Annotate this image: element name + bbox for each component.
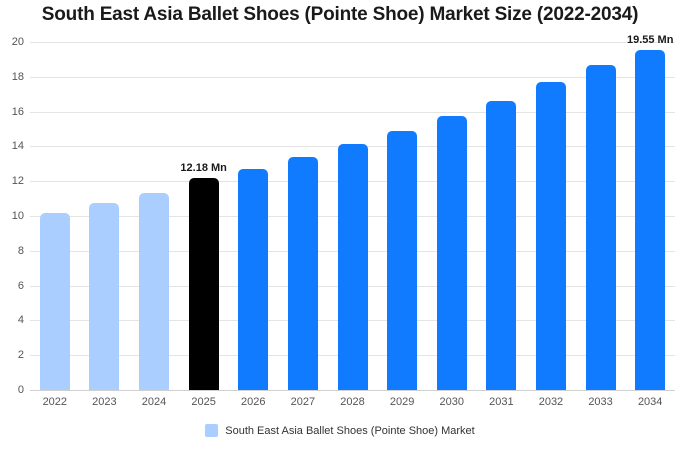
bar[interactable] — [238, 169, 268, 390]
x-axis-tick-label: 2029 — [377, 396, 427, 408]
gridline — [30, 112, 675, 113]
bar[interactable] — [536, 82, 566, 390]
x-axis-tick-label: 2026 — [228, 396, 278, 408]
gridline — [30, 42, 675, 43]
bar[interactable] — [40, 213, 70, 390]
x-axis-tick-label: 2031 — [476, 396, 526, 408]
bar[interactable] — [338, 144, 368, 390]
chart-title: South East Asia Ballet Shoes (Pointe Sho… — [0, 4, 680, 26]
bar[interactable] — [89, 203, 119, 390]
bar[interactable] — [288, 157, 318, 390]
bar[interactable] — [586, 65, 616, 390]
y-axis-tick-label: 4 — [0, 315, 24, 326]
y-axis-tick-label: 10 — [0, 211, 24, 222]
bar[interactable] — [635, 50, 665, 390]
gridline — [30, 77, 675, 78]
x-axis-tick-label: 2023 — [79, 396, 129, 408]
x-axis-tick-label: 2027 — [278, 396, 328, 408]
x-axis-tick-label: 2028 — [328, 396, 378, 408]
bar[interactable] — [486, 101, 516, 390]
x-axis-tick-label: 2025 — [179, 396, 229, 408]
legend-label: South East Asia Ballet Shoes (Pointe Sho… — [225, 425, 474, 437]
chart-container: South East Asia Ballet Shoes (Pointe Sho… — [0, 0, 680, 450]
y-axis-tick-label: 14 — [0, 141, 24, 152]
x-axis-line — [30, 390, 675, 391]
plot-area: 12.18 Mn19.55 Mn — [30, 42, 675, 390]
bar-value-label: 12.18 Mn — [169, 162, 239, 174]
y-axis-tick-label: 0 — [0, 385, 24, 396]
bar-value-label: 19.55 Mn — [615, 34, 680, 46]
x-axis-tick-label: 2032 — [526, 396, 576, 408]
x-axis-tick-labels: 2022202320242025202620272028202920302031… — [30, 396, 675, 416]
y-axis-tick-label: 8 — [0, 246, 24, 257]
bar[interactable] — [387, 131, 417, 390]
y-axis-tick-label: 20 — [0, 37, 24, 48]
x-axis-tick-label: 2030 — [427, 396, 477, 408]
bar[interactable] — [437, 116, 467, 390]
y-axis-tick-label: 18 — [0, 72, 24, 83]
bar[interactable] — [189, 178, 219, 390]
y-axis-tick-label: 6 — [0, 281, 24, 292]
legend-swatch-icon — [205, 424, 218, 437]
y-axis-tick-label: 16 — [0, 107, 24, 118]
chart-legend: South East Asia Ballet Shoes (Pointe Sho… — [0, 424, 680, 437]
x-axis-tick-label: 2024 — [129, 396, 179, 408]
x-axis-tick-label: 2022 — [30, 396, 80, 408]
y-axis-tick-label: 2 — [0, 350, 24, 361]
bar[interactable] — [139, 193, 169, 390]
x-axis-tick-label: 2034 — [625, 396, 675, 408]
x-axis-tick-label: 2033 — [576, 396, 626, 408]
y-axis-tick-label: 12 — [0, 176, 24, 187]
